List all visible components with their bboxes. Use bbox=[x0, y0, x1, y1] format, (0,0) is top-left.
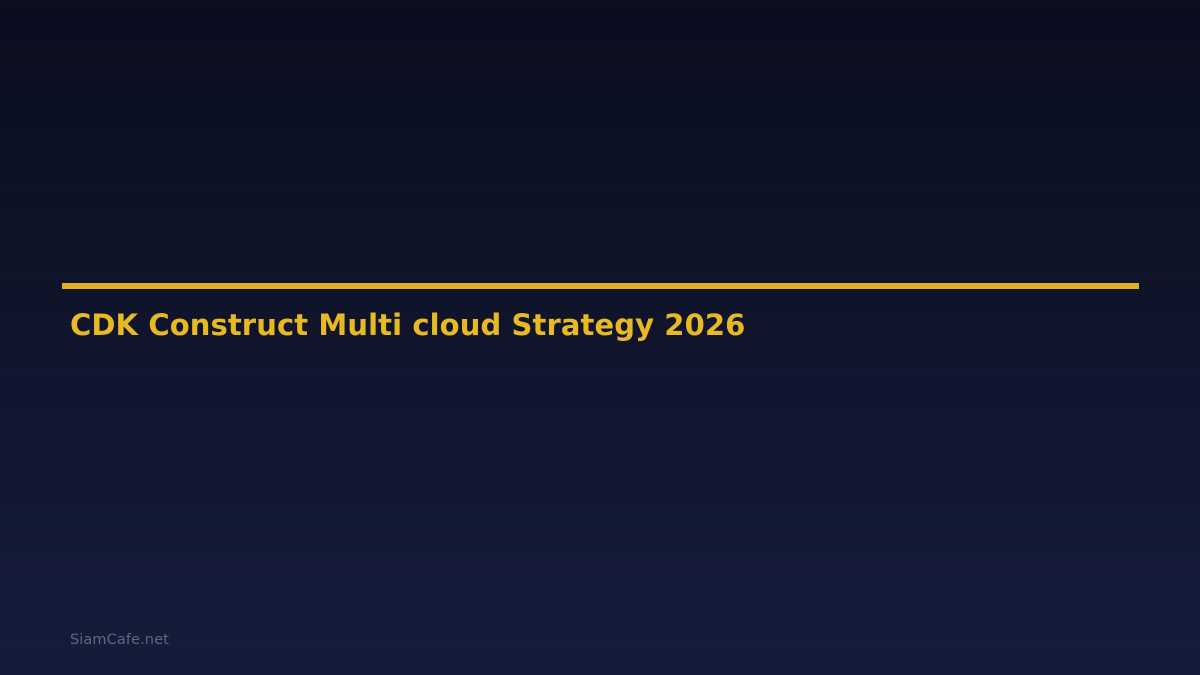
gold-accent-rule bbox=[62, 283, 1139, 289]
page-title: CDK Construct Multi cloud Strategy 2026 bbox=[70, 307, 745, 343]
footer-watermark: SiamCafe.net bbox=[70, 630, 169, 650]
title-block: CDK Construct Multi cloud Strategy 2026 bbox=[62, 283, 1139, 289]
title-slide: CDK Construct Multi cloud Strategy 2026 … bbox=[0, 0, 1200, 675]
